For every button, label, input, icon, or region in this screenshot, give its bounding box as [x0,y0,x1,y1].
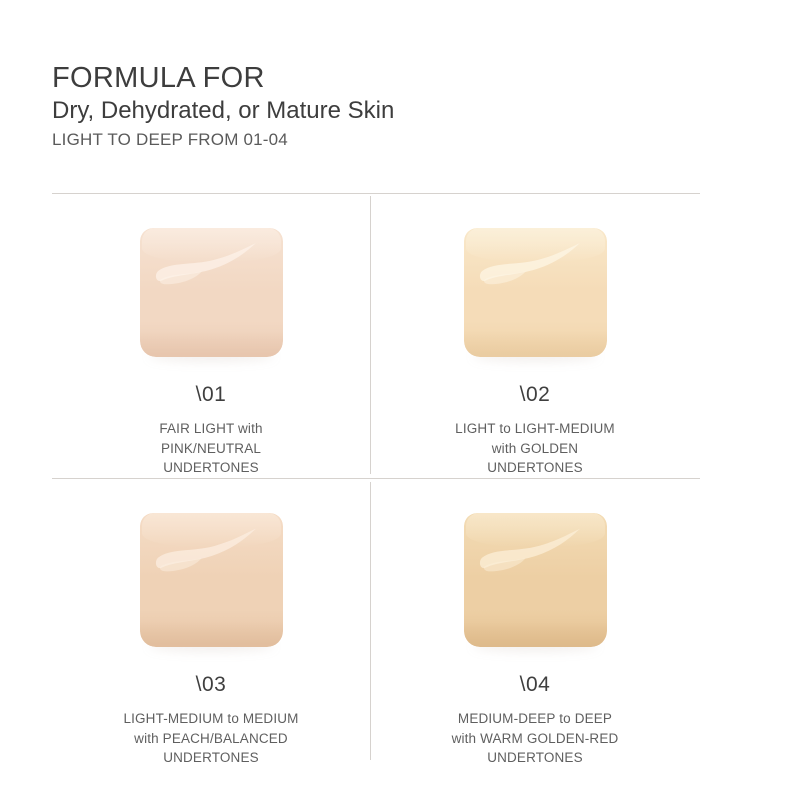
swatch-wrap-04 [464,513,607,647]
swatch-wrap-03 [140,513,283,647]
shade-desc-line: UNDERTONES [455,458,615,478]
swatch-highlight-streak-icon [140,228,283,357]
page-subtitle: Dry, Dehydrated, or Mature Skin [52,96,712,126]
shade-desc-line: FAIR LIGHT with [159,419,262,439]
shade-desc-line: with GOLDEN [455,439,615,459]
shade-swatch-01 [140,228,283,357]
shade-desc-line: PINK/NEUTRAL [159,439,262,459]
shade-cell-04[interactable]: \04 MEDIUM-DEEP to DEEP with WARM GOLDEN… [370,478,700,768]
shade-number-04: \04 [520,674,551,695]
page-header: FORMULA FOR Dry, Dehydrated, or Mature S… [52,62,712,152]
shade-grid: \01 FAIR LIGHT with PINK/NEUTRAL UNDERTO… [52,193,700,768]
shade-desc-line: UNDERTONES [123,748,298,768]
shade-swatch-04 [464,513,607,647]
shade-number-02: \02 [520,384,551,405]
shade-number-03: \03 [196,674,227,695]
page-shade-range: LIGHT TO DEEP FROM 01-04 [52,129,712,151]
swatch-wrap-01 [140,228,283,357]
shade-swatch-03 [140,513,283,647]
shade-desc-line: with WARM GOLDEN-RED [452,729,619,749]
shade-description-02: LIGHT to LIGHT-MEDIUM with GOLDEN UNDERT… [455,419,615,478]
shade-desc-line: MEDIUM-DEEP to DEEP [452,709,619,729]
shade-desc-line: with PEACH/BALANCED [123,729,298,749]
shade-guide-page: FORMULA FOR Dry, Dehydrated, or Mature S… [0,0,800,800]
shade-desc-line: LIGHT-MEDIUM to MEDIUM [123,709,298,729]
page-title: FORMULA FOR [52,62,712,94]
shade-description-04: MEDIUM-DEEP to DEEP with WARM GOLDEN-RED… [452,709,619,768]
shade-description-01: FAIR LIGHT with PINK/NEUTRAL UNDERTONES [159,419,262,478]
shade-cell-01[interactable]: \01 FAIR LIGHT with PINK/NEUTRAL UNDERTO… [52,193,370,478]
shade-description-03: LIGHT-MEDIUM to MEDIUM with PEACH/BALANC… [123,709,298,768]
swatch-highlight-streak-icon [464,228,607,357]
shade-desc-line: UNDERTONES [159,458,262,478]
swatch-highlight-streak-icon [140,513,283,647]
shade-desc-line: UNDERTONES [452,748,619,768]
shade-desc-line: LIGHT to LIGHT-MEDIUM [455,419,615,439]
shade-number-01: \01 [196,384,227,405]
shade-cell-03[interactable]: \03 LIGHT-MEDIUM to MEDIUM with PEACH/BA… [52,478,370,768]
swatch-highlight-streak-icon [464,513,607,647]
shade-swatch-02 [464,228,607,357]
shade-cell-02[interactable]: \02 LIGHT to LIGHT-MEDIUM with GOLDEN UN… [370,193,700,478]
swatch-wrap-02 [464,228,607,357]
